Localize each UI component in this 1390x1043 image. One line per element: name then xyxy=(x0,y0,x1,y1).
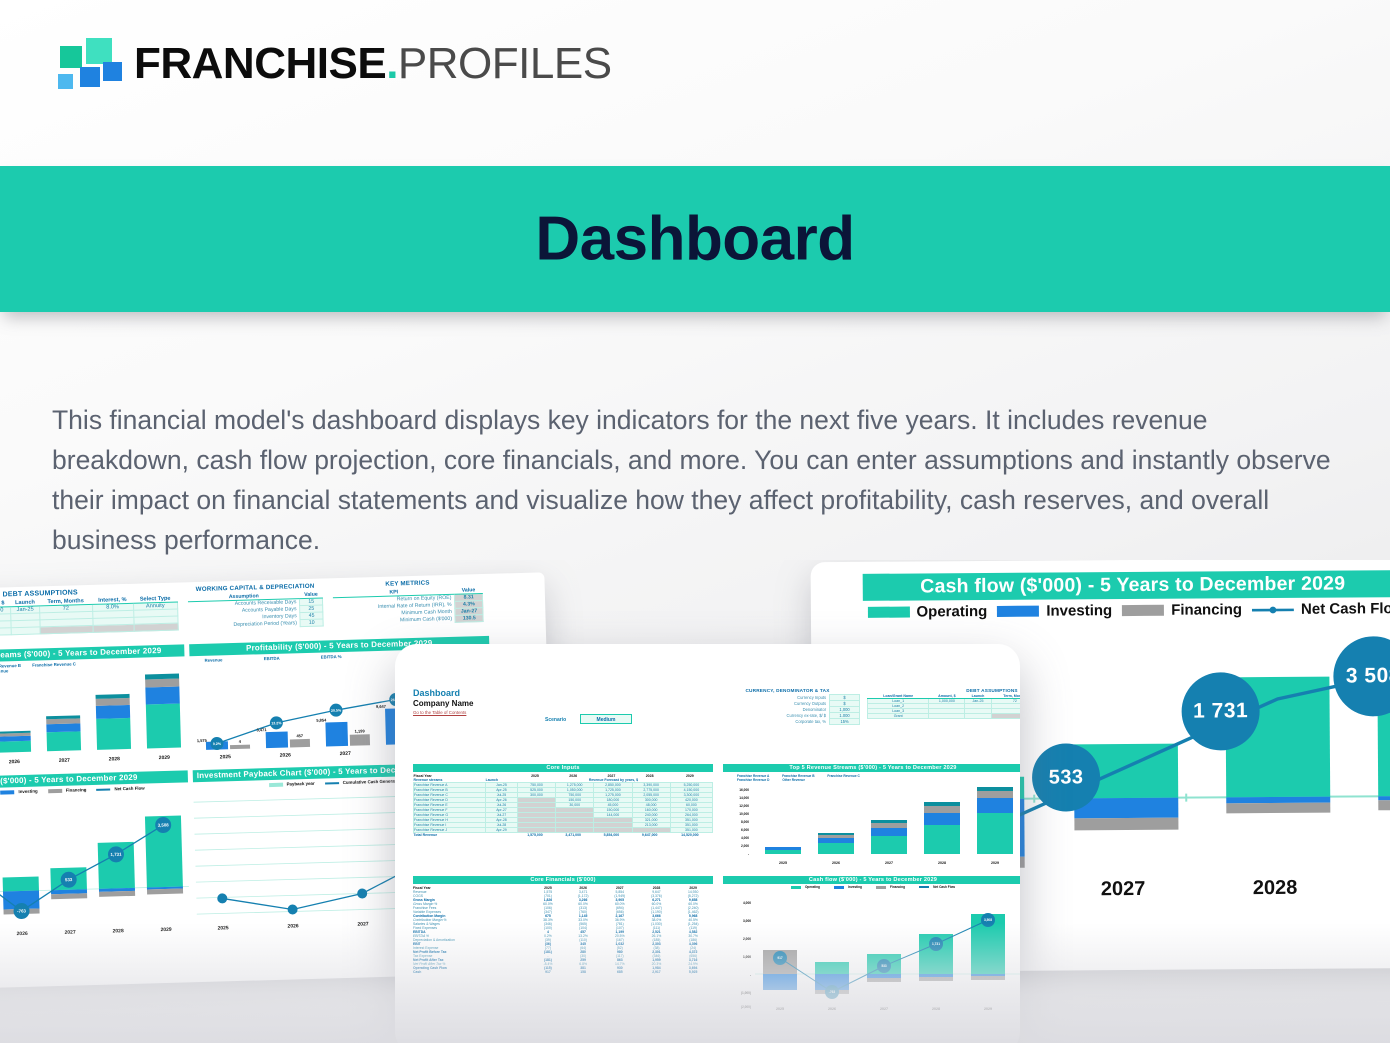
cell: 1,575,000 xyxy=(517,833,555,838)
chart-legend: Franchise Revenue A Franchise Revenue B … xyxy=(0,661,76,675)
brand-wordmark: FRANCHISE.PROFILES xyxy=(134,39,612,89)
working-capital-block: WORKING CAPITAL & DEPRECIATION Assumptio… xyxy=(188,583,324,631)
cell: 5,925 xyxy=(676,970,713,974)
chart-plot: 16,00014,00012,000 10,0008,0006,000 4,00… xyxy=(0,672,187,770)
cell: 14,520,000 xyxy=(670,833,712,838)
debt-table: Loan/Grant Name Amount, $ Launch Term, M… xyxy=(867,694,1020,719)
intro-paragraph: This financial model's dashboard display… xyxy=(52,400,1342,560)
brand-name-bold: FRANCHISE xyxy=(134,39,386,88)
card-company: Company Name xyxy=(413,699,473,708)
svg-text:10,000: 10,000 xyxy=(739,812,749,816)
svg-text:2,000: 2,000 xyxy=(741,844,749,848)
row-label: Cash xyxy=(413,970,533,974)
scenario-label: Scenario xyxy=(545,717,566,723)
legend-item-operating: Operating xyxy=(867,603,987,621)
svg-text:1,731: 1,731 xyxy=(110,852,122,857)
svg-text:533: 533 xyxy=(881,964,887,968)
left-revenue-chart[interactable]: Top 5 Revenue Streams ($'000) - 5 Years … xyxy=(0,644,187,770)
title-banner: Dashboard xyxy=(0,166,1390,312)
svg-text:2028: 2028 xyxy=(932,1007,940,1011)
cell[interactable] xyxy=(929,714,965,719)
value-bubble-2027: 533 xyxy=(1032,743,1100,811)
legend-item: Franchise Revenue C xyxy=(32,661,76,667)
legend-item: EBITDA xyxy=(264,656,280,661)
svg-text:1,731: 1,731 xyxy=(932,942,940,946)
svg-text:2026: 2026 xyxy=(280,752,292,758)
core-financials-table: Fiscal Year 2025 2026 2027 2028 2029 Rev… xyxy=(413,886,713,974)
legend-label: Net Cash Flow xyxy=(1301,600,1390,618)
currency-table: Currency Inputs$ Currency Outputs$ Denom… xyxy=(715,694,860,725)
four-squares-logo-icon xyxy=(50,38,112,90)
svg-text:2025: 2025 xyxy=(779,861,787,865)
legend-label: Operating xyxy=(916,603,987,620)
card-heading: Dashboard xyxy=(413,688,473,698)
svg-text:2026: 2026 xyxy=(287,923,299,929)
legend-item-investing: Investing xyxy=(997,602,1112,620)
svg-text:4: 4 xyxy=(239,739,242,744)
core-financials-block: Core Financials ($'000) Fiscal Year 2025… xyxy=(413,876,713,974)
svg-text:2025: 2025 xyxy=(217,925,229,931)
legend-label: Financing xyxy=(1171,601,1242,618)
svg-text:1,000: 1,000 xyxy=(743,955,751,959)
svg-text:2026: 2026 xyxy=(828,1007,836,1011)
card-header: Dashboard Company Name Go to the Table o… xyxy=(413,688,473,715)
svg-text:-: - xyxy=(748,852,749,856)
page-title: Dashboard xyxy=(0,204,1390,275)
legend-item-net-cash-flow: Net Cash Flow xyxy=(1252,600,1390,618)
key-metrics-block: KEY METRICS KPIValue Return on Equity (R… xyxy=(332,578,483,626)
chart-legend: Revenue EBITDA EBITDA % xyxy=(205,654,342,663)
core-inputs-title: Core Inputs xyxy=(413,764,713,772)
bar-financing-2029 xyxy=(1378,800,1390,811)
svg-text:3,471: 3,471 xyxy=(256,727,267,732)
svg-text:5,854: 5,854 xyxy=(316,717,327,722)
svg-text:2025: 2025 xyxy=(220,754,232,760)
svg-text:2029: 2029 xyxy=(984,1007,992,1011)
svg-text:13.2%: 13.2% xyxy=(271,721,282,725)
legend-item: Other Revenue xyxy=(782,778,805,782)
table-row: Grant xyxy=(868,714,1021,719)
total-label: Total Revenue xyxy=(414,833,486,838)
center-cashflow-chart[interactable]: Cash flow ($'000) - 5 Years to December … xyxy=(723,876,1020,1016)
value-bubble-2028: 1 731 xyxy=(1181,672,1260,751)
legend-item: Other Revenue xyxy=(0,668,8,674)
cell xyxy=(991,714,1020,719)
svg-text:16,000: 16,000 xyxy=(739,788,749,792)
legend-item: Financing xyxy=(48,787,87,793)
svg-text:3,508: 3,508 xyxy=(158,822,170,827)
left-cashflow-chart[interactable]: Cash flow ($'000) - 5 Years to December … xyxy=(0,770,192,948)
cell: 130.5 xyxy=(455,615,483,623)
bar-investing-2028 xyxy=(1226,797,1330,804)
legend-item: Financing xyxy=(876,885,905,889)
cashflow-chart-title: Cash flow ($'000) - 5 Years to December … xyxy=(863,570,1390,601)
table-of-contents-link[interactable]: Go to the Table of Contents xyxy=(413,710,473,715)
cell[interactable]: Grant xyxy=(868,714,929,719)
legend-item-financing: Financing xyxy=(1122,601,1242,619)
bar-financing-2028 xyxy=(1226,803,1330,814)
cell xyxy=(93,624,134,632)
chart-title: Top 5 Revenue Streams ($'000) - 5 Years … xyxy=(723,764,1020,772)
svg-text:2025: 2025 xyxy=(776,1007,784,1011)
chart-title: Top 5 Revenue Streams ($'000) - 5 Years … xyxy=(0,644,184,664)
svg-text:20.5%: 20.5% xyxy=(331,709,342,713)
x-tick-2028: 2028 xyxy=(1253,877,1298,900)
cell xyxy=(40,625,93,633)
svg-text:2027: 2027 xyxy=(59,758,71,764)
brand-name-dot: . xyxy=(386,39,398,88)
svg-text:2027: 2027 xyxy=(885,861,893,865)
chart-plot: 4,0003,0002,000 1,000-(1,000)(2,000) xyxy=(723,896,1020,1014)
debt-assumptions-block: DEBT ASSUMPTIONS Loan/Grant Name Amount,… xyxy=(0,587,179,639)
svg-text:3,508: 3,508 xyxy=(984,918,992,922)
svg-text:2027: 2027 xyxy=(65,930,77,936)
svg-text:9,647: 9,647 xyxy=(376,704,387,709)
svg-text:2029: 2029 xyxy=(991,861,999,865)
legend-swatch-operating xyxy=(867,607,909,618)
legend-item: Franchise Revenue D xyxy=(737,778,769,782)
legend-item: Investing xyxy=(0,789,37,795)
scenario-select[interactable]: Medium xyxy=(580,714,632,724)
legend-label: Investing xyxy=(1046,602,1112,619)
cell: 5,854,000 xyxy=(594,833,632,838)
svg-text:1,199: 1,199 xyxy=(355,728,366,733)
cell[interactable] xyxy=(965,714,991,719)
svg-text:-763: -763 xyxy=(17,908,26,913)
svg-text:1,575: 1,575 xyxy=(197,738,208,743)
cell: 9,647,000 xyxy=(632,833,670,838)
screenshot-collage: & TAX $ $ 1,000 1,000 15% DEBT ASSUMPTIO… xyxy=(0,560,1390,1043)
legend-swatch-investing xyxy=(997,606,1039,617)
bar-financing-2027 xyxy=(1074,818,1178,831)
key-metrics-table: KPIValue Return on Equity (ROE)8.31 Inte… xyxy=(333,587,484,626)
svg-text:3,000: 3,000 xyxy=(743,919,751,923)
cell xyxy=(11,627,40,635)
svg-text:2027: 2027 xyxy=(880,1007,888,1011)
cell xyxy=(486,833,518,838)
cell[interactable]: 15% xyxy=(830,719,860,725)
core-financials-title: Core Financials ($'000) xyxy=(413,876,713,884)
svg-text:6,000: 6,000 xyxy=(741,828,749,832)
cell: 158 xyxy=(566,970,603,974)
legend-item: Payback year xyxy=(269,781,315,787)
svg-text:917: 917 xyxy=(777,956,783,960)
svg-text:533: 533 xyxy=(65,877,73,882)
page-header: FRANCHISE.PROFILES xyxy=(0,0,1390,165)
svg-text:2029: 2029 xyxy=(159,755,171,761)
legend-item: EBITDA % xyxy=(321,654,342,660)
currency-block: CURRENCY, DENOMINATOR & TAX Currency Inp… xyxy=(715,688,860,725)
svg-text:4,000: 4,000 xyxy=(741,836,749,840)
svg-text:2026: 2026 xyxy=(9,759,21,765)
svg-text:2027: 2027 xyxy=(357,921,369,927)
working-capital-table: AssumptionValue Accounts Receivable Days… xyxy=(188,591,324,630)
legend-swatch-financing xyxy=(1122,605,1164,616)
svg-text:457: 457 xyxy=(296,733,304,738)
svg-text:(1,000): (1,000) xyxy=(741,991,751,995)
chart-plot: 4,0003,0002,000 1,000-(1,000)(2,000) xyxy=(0,794,192,942)
svg-text:2028: 2028 xyxy=(112,928,124,934)
svg-text:2026: 2026 xyxy=(17,931,29,937)
cell xyxy=(0,628,11,636)
cashflow-chart-legend: Operating Investing Financing Net Cash F… xyxy=(851,600,1390,621)
brand-name-light: PROFILES xyxy=(398,39,612,88)
chart-legend: Operating Investing Financing Net Cash F… xyxy=(723,885,1020,889)
svg-text:2028: 2028 xyxy=(938,861,946,865)
debt-assumptions-table: Loan/Grant Name Amount, $ Launch Term, M… xyxy=(0,596,179,639)
table-row: Total Revenue 1,575,000 3,471,000 5,854,… xyxy=(414,833,713,838)
svg-text:2026: 2026 xyxy=(832,861,840,865)
center-revenue-chart[interactable]: Top 5 Revenue Streams ($'000) - 5 Years … xyxy=(723,764,1020,869)
svg-text:2029: 2029 xyxy=(160,927,172,933)
legend-item: Franchise Revenue C xyxy=(827,774,859,778)
core-inputs-table: Fiscal Year 2025 2026 2027 2028 2029 Rev… xyxy=(413,774,713,837)
svg-text:0.2%: 0.2% xyxy=(213,742,222,746)
brand-logo: FRANCHISE.PROFILES xyxy=(50,38,612,90)
currency-title: CURRENCY, DENOMINATOR & TAX xyxy=(715,688,860,693)
svg-text:-: - xyxy=(750,973,751,977)
svg-text:2,000: 2,000 xyxy=(743,937,751,941)
legend-item: Net Cash Flow xyxy=(96,786,144,792)
cell: 917 xyxy=(533,970,567,974)
cell: Corporate tax, % xyxy=(715,719,830,725)
svg-text:2028: 2028 xyxy=(109,756,121,762)
chart-legend: Franchise Revenue A Franchise Revenue B … xyxy=(737,774,860,782)
legend-item: Net Cash Flow xyxy=(919,885,955,889)
svg-text:(2,000): (2,000) xyxy=(741,1005,751,1009)
table-row: Cash9171586852,9175,925 xyxy=(413,970,713,974)
center-debt-block: DEBT ASSUMPTIONS Loan/Grant Name Amount,… xyxy=(867,688,1020,719)
cell: 2,917 xyxy=(640,970,677,974)
core-inputs-block: Core Inputs Fiscal Year 2025 2026 2027 2… xyxy=(413,764,713,837)
svg-text:12,000: 12,000 xyxy=(739,804,749,808)
legend-item: Revenue xyxy=(205,657,223,662)
cell: 10 xyxy=(300,619,323,627)
table-row: Corporate tax, %15% xyxy=(715,719,860,725)
legend-item: Operating xyxy=(791,885,820,889)
x-tick-2027: 2027 xyxy=(1101,878,1146,901)
legend-item: Investing xyxy=(834,885,862,889)
cell: 685 xyxy=(603,970,640,974)
svg-text:2027: 2027 xyxy=(340,751,352,757)
svg-text:8,000: 8,000 xyxy=(741,820,749,824)
debt-title: DEBT ASSUMPTIONS xyxy=(867,688,1020,693)
svg-text:4,000: 4,000 xyxy=(743,901,751,905)
svg-text:-763: -763 xyxy=(829,990,836,994)
cell: 3,471,000 xyxy=(556,833,594,838)
svg-text:14,000: 14,000 xyxy=(739,796,749,800)
legend-line-icon xyxy=(1252,603,1294,615)
cell xyxy=(134,623,179,631)
chart-plot: 16,00014,00012,000 10,0008,0006,000 4,00… xyxy=(723,786,1020,868)
chart-title: Cash flow ($'000) - 5 Years to December … xyxy=(723,876,1020,884)
dashboard-card-screenshot[interactable]: Dashboard Company Name Go to the Table o… xyxy=(395,644,1020,1043)
